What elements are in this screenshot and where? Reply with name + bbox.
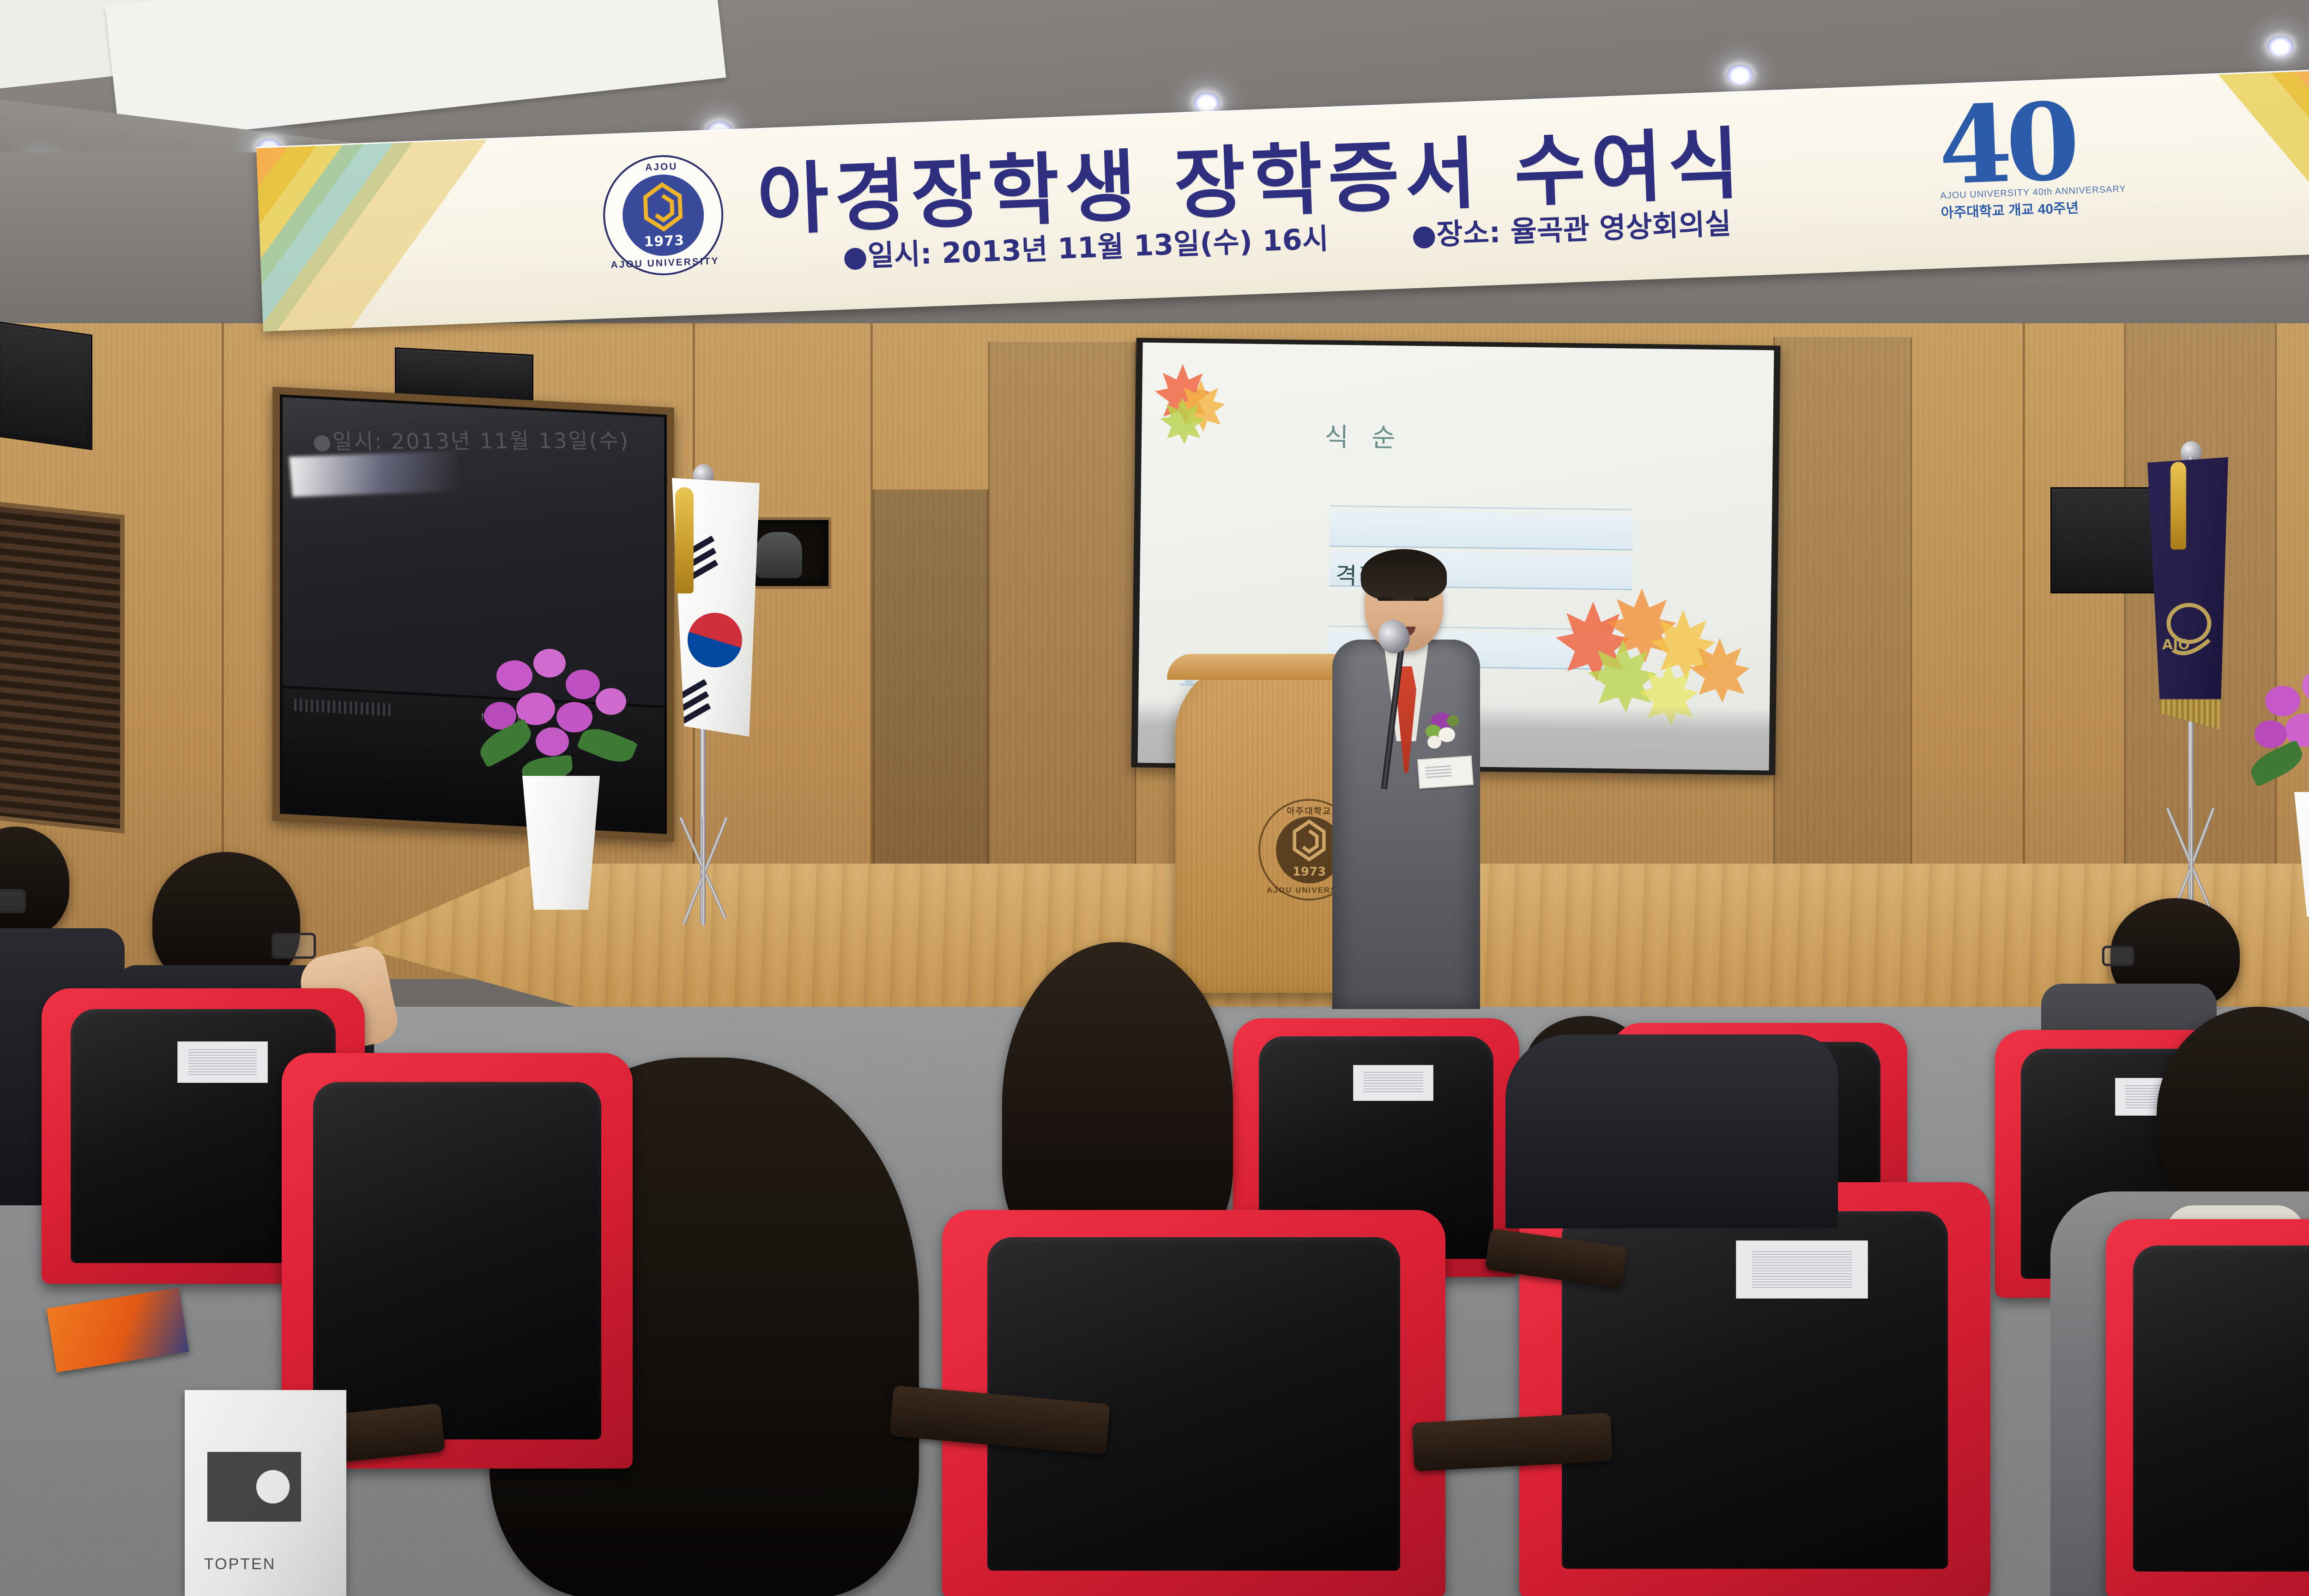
seat-back [2133, 1245, 2309, 1571]
flower-bloom [556, 702, 592, 732]
flag-tassel [2170, 462, 2186, 550]
seal-arc-bottom-text: AJOU UNIVERSITY [607, 255, 724, 271]
svg-text:AJO: AJO [2162, 637, 2190, 653]
podium-emblem-year: 1973 [1293, 865, 1326, 879]
bag-brand-label: TOPTEN [204, 1555, 276, 1573]
ceiling-skylight-panel [105, 0, 726, 143]
seat-armrest [1412, 1413, 1613, 1471]
downlight-icon [1727, 65, 1753, 85]
screen-reflection-text: ●일시: 2013년 11월 13일(수) 16시 [312, 424, 635, 477]
display-screen: ●일시: 2013년 11월 13일(수) 16시 [280, 394, 667, 708]
flower-bloom [496, 660, 532, 691]
rainbow-ray [2173, 71, 2309, 268]
shopping-bag[interactable]: TOPTEN [185, 1390, 346, 1596]
glasses-icon [0, 889, 26, 913]
seat-back [313, 1082, 601, 1439]
flag-tassel [675, 487, 694, 593]
taeguk-blue [681, 606, 750, 675]
bag-logo-icon [207, 1452, 301, 1522]
seat-number-tag [177, 1041, 268, 1083]
sculpture-artifact [756, 532, 802, 578]
glasses-icon [2102, 946, 2134, 966]
display-vent [294, 699, 393, 716]
wall-panel-alcove [1773, 337, 1912, 873]
auditorium-photo: ●일시: 2013년 11월 13일(수) 16시 MITSUBISHI [0, 0, 2309, 1596]
ajou-flag-emblem-icon: AJO [2159, 596, 2219, 665]
speaker-hair [1361, 549, 1447, 601]
speaker-eye [1414, 597, 1429, 601]
seat-number-tag [1736, 1240, 1868, 1299]
flower-bloom [536, 727, 569, 756]
wall-speaker-icon [2050, 487, 2166, 593]
downlight-icon [1194, 92, 1220, 113]
auditorium-seat[interactable] [2106, 1219, 2309, 1596]
mitsubishi-display: ●일시: 2013년 11월 13일(수) 16시 MITSUBISHI [272, 387, 674, 842]
slide-title: 식 순 [1324, 416, 1403, 454]
ventilation-louvre [0, 501, 125, 834]
speaker-eye [1378, 597, 1393, 601]
anniversary-number: 40 [1937, 90, 2180, 194]
flower-bloom [596, 688, 626, 715]
slide-row [1330, 511, 1633, 550]
wall-panel-alcove [988, 342, 1136, 873]
wall-panel-door[interactable] [873, 490, 988, 873]
flower-bloom [566, 670, 600, 699]
seal-year: 1973 [644, 232, 685, 250]
flag-tripod-leg [702, 817, 705, 926]
anniversary-logo: 40 AJOU UNIVERSITY 40th ANNIVERSARY 아주대학… [1937, 90, 2182, 237]
speaker-corsage [1423, 709, 1467, 753]
ajou-university-flag: AJO [2147, 457, 2228, 730]
ajou-mark-icon [638, 181, 688, 233]
wall-seam [222, 323, 224, 868]
seal-disc: 1973 [621, 173, 705, 257]
seal-arc-top-text: AJOU [603, 159, 720, 175]
speaker-body [1332, 640, 1480, 1009]
slide-row [1330, 471, 1633, 510]
flower-bloom [2265, 686, 2300, 716]
audience-body [1505, 1034, 1838, 1228]
glasses-icon [272, 933, 316, 959]
ajou-flag-mark-svg: AJO [2159, 596, 2215, 660]
seat-number-tag [1353, 1065, 1433, 1101]
banner-rainbow-left-graphic [256, 135, 623, 332]
corsage-petal [1447, 715, 1459, 726]
downlight-icon [2267, 36, 2293, 56]
wall-seam [2023, 323, 2025, 901]
ceiling-speaker-icon [0, 321, 92, 450]
ajou-mark-icon [1289, 819, 1330, 862]
speaker-name-badge [1417, 756, 1474, 789]
flower-bloom [533, 649, 566, 677]
flower-bloom [2255, 720, 2287, 748]
corsage-petal [1427, 736, 1441, 749]
